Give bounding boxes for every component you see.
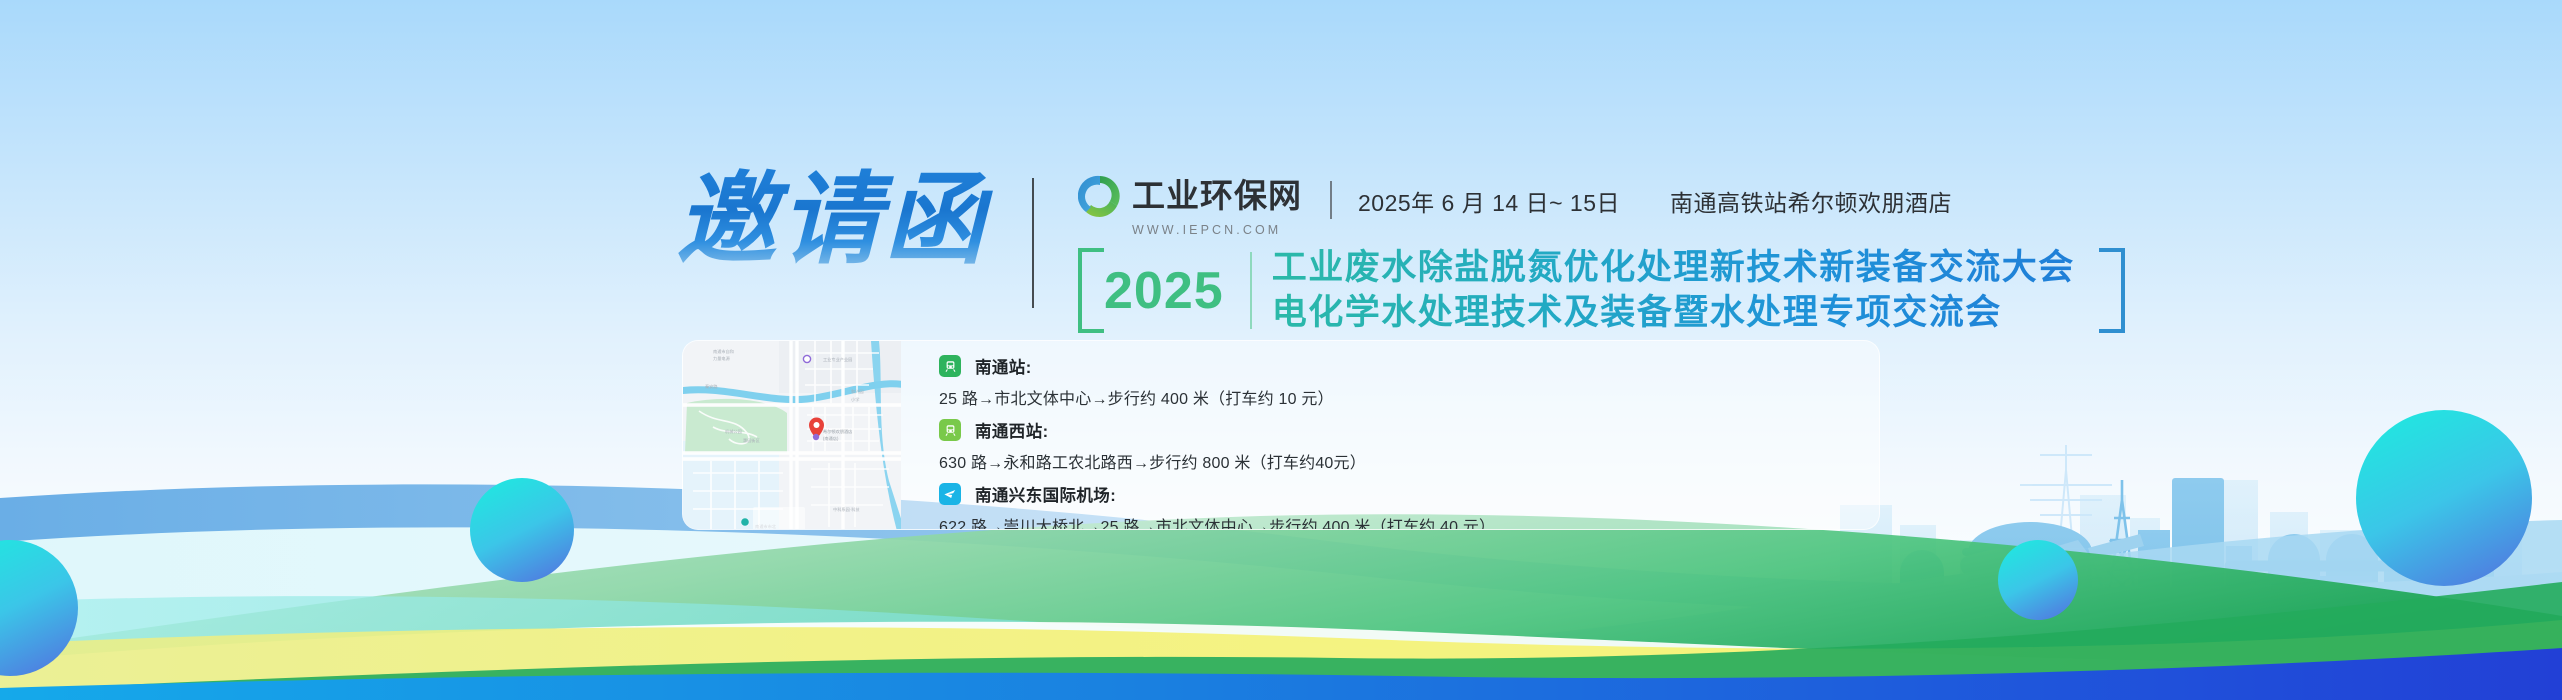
conference-title-block: 2025 工业废水除盐脱氮优化处理新技术新装备交流大会 电化学水处理技术及装备暨… [1078,248,2125,333]
route-description: 25 路→市北文体中心→步行约 400 米（打车约 10 元） [939,385,1879,409]
svg-text:中科系园·科技: 中科系园·科技 [833,506,860,513]
brand-logo[interactable]: 工业环保网 WWW.IEPCN.COM [1078,174,1302,237]
meta-row: 工业环保网 WWW.IEPCN.COM 2025年 6 月 14 日~ 15日 … [1078,176,2125,234]
route-title: 南通西站: [975,418,1049,442]
brand-name: 工业环保网 [1132,179,1302,212]
invitation-banner: 邀请函 [0,0,2562,700]
svg-text:秦安路: 秦安路 [705,383,718,390]
route-title: 南通站: [975,354,1032,378]
location-map-thumbnail[interactable]: 南通市自和 力量电源 机械公园 惠园街区 工业专业产业园 和兴园 小学 中科系园… [683,341,901,530]
headline-row: 邀请函 [676,168,2125,333]
train-icon [939,419,961,441]
route-item: 南通西站: 630 路→永和路工农北路西→步行约 800 米（打车约40元） [939,418,1879,473]
svg-text:(南通店): (南通店) [823,435,839,442]
year-badge: 2025 [1078,248,1246,333]
train-icon [939,355,961,377]
map-graphic: 南通市自和 力量电源 机械公园 惠园街区 工业专业产业园 和兴园 小学 中科系园… [683,341,901,530]
meta-separator [1330,181,1332,219]
event-venue: 南通高铁站希尔顿欢朋酒店 [1670,184,1952,218]
plane-icon [939,483,961,505]
route-description: 630 路→永和路工农北路西→步行约 800 米（打车约40元） [939,449,1879,473]
route-list: 南通站: 25 路→市北文体中心→步行约 400 米（打车约 10 元） [901,341,1879,529]
svg-text:工业专业产业园: 工业专业产业园 [823,356,852,363]
event-date: 2025年 6 月 14 日~ 15日 [1358,184,1620,218]
brand-url: WWW.IEPCN.COM [1132,223,1302,237]
conference-year: 2025 [1104,265,1224,317]
vertical-divider [1032,178,1034,308]
svg-text:机械公园: 机械公园 [725,428,742,435]
conference-title-line-1: 工业废水除盐脱氮优化处理新技术新装备交流大会 [1272,248,2075,289]
route-item: 南通站: 25 路→市北文体中心→步行约 400 米（打车约 10 元） [939,354,1879,409]
transportation-info-panel: 南通市自和 力量电源 机械公园 惠园街区 工业专业产业园 和兴园 小学 中科系园… [682,340,1880,530]
route-title: 南通兴东国际机场: [975,482,1116,506]
route-item: 南通兴东国际机场: 622 路→崇川大桥北→25 路→市北文体中心→步行约 40… [939,482,1879,530]
bracket-left-icon [1078,248,1104,333]
svg-text:南通市自和: 南通市自和 [713,348,734,355]
svg-text:和兴园: 和兴园 [851,388,864,395]
conference-separator [1250,252,1252,329]
page-title: 邀请函 [676,168,998,273]
bracket-right-icon [2099,248,2125,333]
svg-text:小学: 小学 [851,396,859,403]
svg-text:惠园街区: 惠园街区 [743,437,760,444]
circular-ring-logo-icon [1078,174,1122,218]
conference-title-line-2: 电化学水处理技术及装备暨水处理专项交流会 [1272,293,2075,334]
svg-text:希尔顿欢朋酒店: 希尔顿欢朋酒店 [823,428,852,435]
route-description: 622 路→崇川大桥北→25 路→市北文体中心→步行约 400 米（打车约 40… [939,513,1879,530]
svg-text:力量电源: 力量电源 [713,355,731,362]
